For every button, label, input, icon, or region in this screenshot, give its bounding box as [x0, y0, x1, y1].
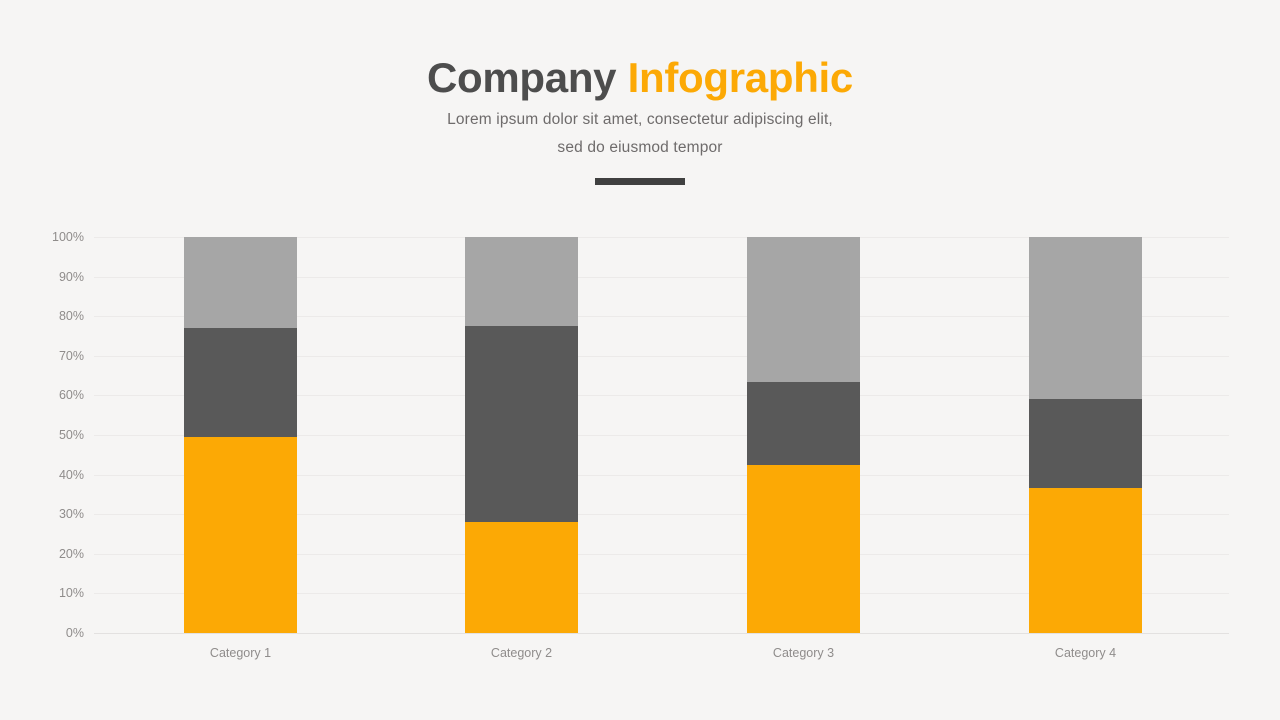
y-axis-tick-label: 90% [0, 271, 84, 283]
x-axis-label-2: Category 2 [412, 646, 632, 661]
chart-plot-area [94, 237, 1229, 633]
bar-segment-2-series-1[interactable] [465, 522, 578, 633]
bar-stack-4[interactable] [1029, 237, 1142, 633]
bar-segment-4-series-1[interactable] [1029, 488, 1142, 633]
x-axis-label-1: Category 1 [131, 646, 351, 661]
y-axis-tick-label: 0% [0, 627, 84, 639]
y-axis-tick-label: 60% [0, 389, 84, 401]
y-axis-tick-label: 40% [0, 469, 84, 481]
bar-segment-2-series-3[interactable] [465, 237, 578, 326]
x-axis-label-3: Category 3 [694, 646, 914, 661]
bar-segment-4-series-3[interactable] [1029, 237, 1142, 399]
stacked-bar-chart: 100%90%80%70%60%50%40%30%20%10%0%Categor… [0, 0, 1280, 720]
bar-stack-1[interactable] [184, 237, 297, 633]
y-axis-tick-label: 10% [0, 587, 84, 599]
y-axis-tick-label: 80% [0, 310, 84, 322]
bar-segment-3-series-1[interactable] [747, 465, 860, 633]
y-axis-tick-label: 20% [0, 548, 84, 560]
bar-segment-3-series-2[interactable] [747, 382, 860, 465]
y-axis-tick-label: 30% [0, 508, 84, 520]
bar-segment-1-series-2[interactable] [184, 328, 297, 437]
bar-segment-1-series-1[interactable] [184, 437, 297, 633]
y-axis-tick-label: 100% [0, 231, 84, 243]
bar-stack-3[interactable] [747, 237, 860, 633]
bar-segment-4-series-2[interactable] [1029, 399, 1142, 488]
y-axis-tick-label: 70% [0, 350, 84, 362]
bar-segment-2-series-2[interactable] [465, 326, 578, 522]
y-axis-tick-label: 50% [0, 429, 84, 441]
x-axis-label-4: Category 4 [976, 646, 1196, 661]
bar-segment-3-series-3[interactable] [747, 237, 860, 382]
gridline-0 [94, 633, 1229, 634]
bar-segment-1-series-3[interactable] [184, 237, 297, 328]
bar-stack-2[interactable] [465, 237, 578, 633]
